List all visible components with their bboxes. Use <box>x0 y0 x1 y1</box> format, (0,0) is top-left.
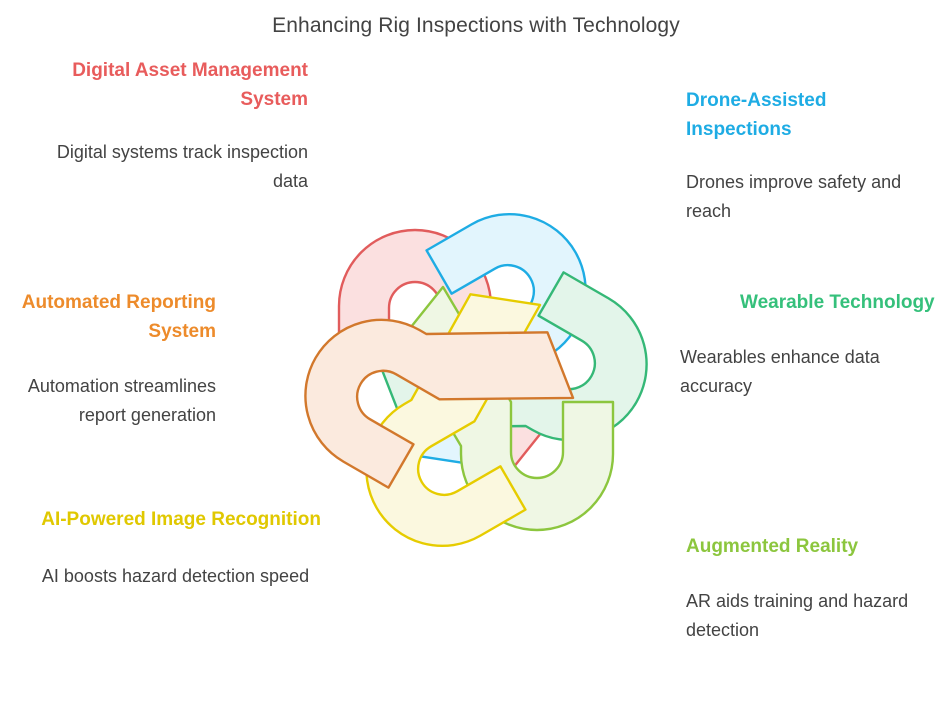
callout-heading-ai-powered-image-recognition: AI-Powered Image Recognition <box>30 505 321 534</box>
callout-description-wearable-technology: Wearables enhance data accuracy <box>680 343 936 401</box>
page-title: Enhancing Rig Inspections with Technolog… <box>0 12 952 40</box>
callout-digital-asset-management-system: Digital Asset Management System Digital … <box>20 56 308 196</box>
callout-heading-augmented-reality: Augmented Reality <box>686 532 936 561</box>
callout-drone-assisted-inspections: Drone-Assisted Inspections Drones improv… <box>686 86 936 226</box>
callout-description-automated-reporting-system: Automation streamlines report generation <box>0 372 216 430</box>
callout-heading-drone-assisted-inspections: Drone-Assisted Inspections <box>686 86 936 144</box>
callout-description-digital-asset-management-system: Digital systems track inspection data <box>20 138 308 196</box>
callout-description-augmented-reality: AR aids training and hazard detection <box>686 587 936 645</box>
callout-augmented-reality: Augmented Reality AR aids training and h… <box>686 532 936 645</box>
callout-ai-powered-image-recognition: AI-Powered Image Recognition AI boosts h… <box>30 505 321 591</box>
callout-description-drone-assisted-inspections: Drones improve safety and reach <box>686 168 936 226</box>
callout-wearable-technology: Wearable Technology Wearables enhance da… <box>740 288 936 401</box>
callout-description-ai-powered-image-recognition: AI boosts hazard detection speed <box>30 562 321 591</box>
infographic-canvas: Enhancing Rig Inspections with Technolog… <box>0 0 952 721</box>
callout-heading-wearable-technology: Wearable Technology <box>740 288 936 317</box>
callout-automated-reporting-system: Automated Reporting System Automation st… <box>0 288 216 430</box>
callout-heading-digital-asset-management-system: Digital Asset Management System <box>20 56 308 114</box>
callout-heading-automated-reporting-system: Automated Reporting System <box>0 288 216 346</box>
